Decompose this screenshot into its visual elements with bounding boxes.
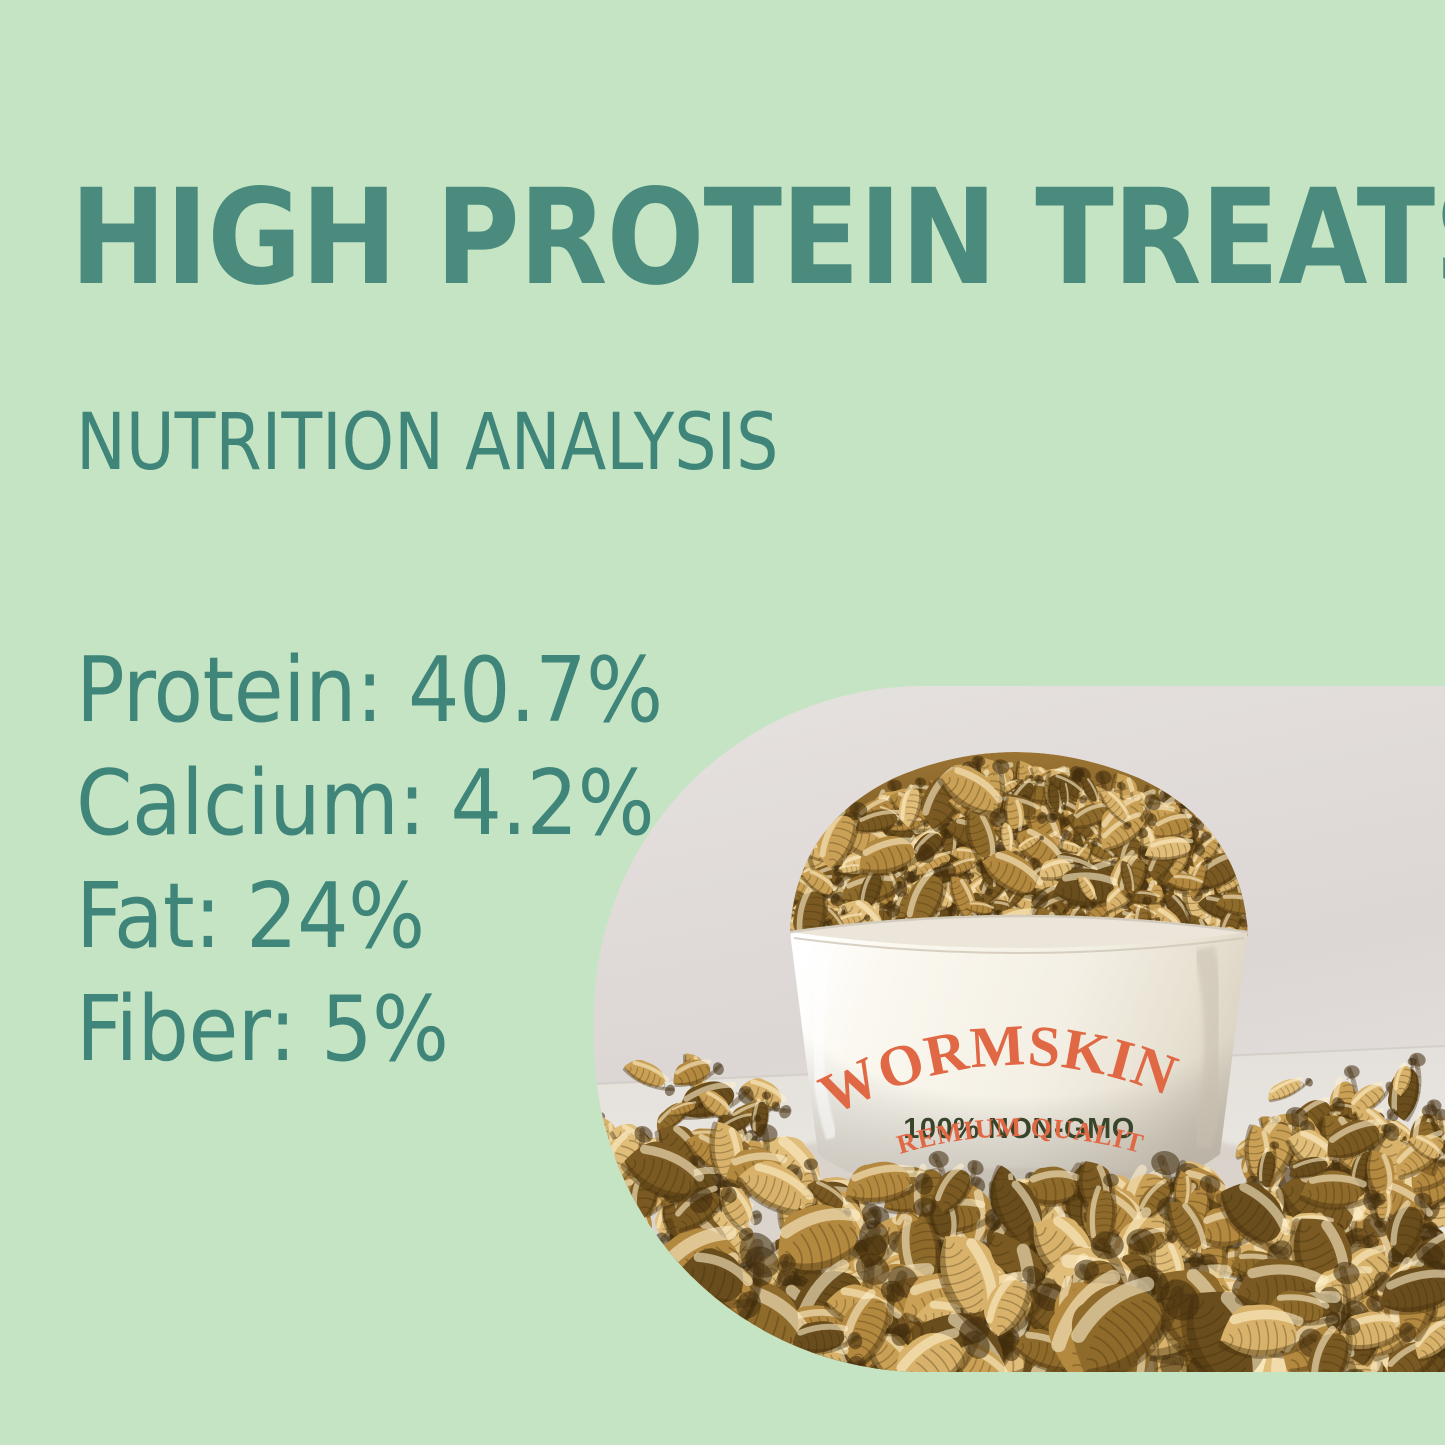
product-photo-illustration: WORMSKING 100% NON-GMO PREMIUM QUALITY: [594, 686, 1445, 1372]
poster-canvas: HIGH PROTEIN TREATS NUTRITION ANALYSIS P…: [0, 0, 1445, 1445]
product-photo: WORMSKING 100% NON-GMO PREMIUM QUALITY: [594, 686, 1445, 1372]
nutrition-item-protein: Protein: 40.7%: [76, 634, 716, 747]
nutrition-item-calcium: Calcium: 4.2%: [76, 747, 716, 860]
page-title: HIGH PROTEIN TREATS: [70, 172, 1445, 304]
page-subtitle: NUTRITION ANALYSIS: [76, 404, 779, 482]
